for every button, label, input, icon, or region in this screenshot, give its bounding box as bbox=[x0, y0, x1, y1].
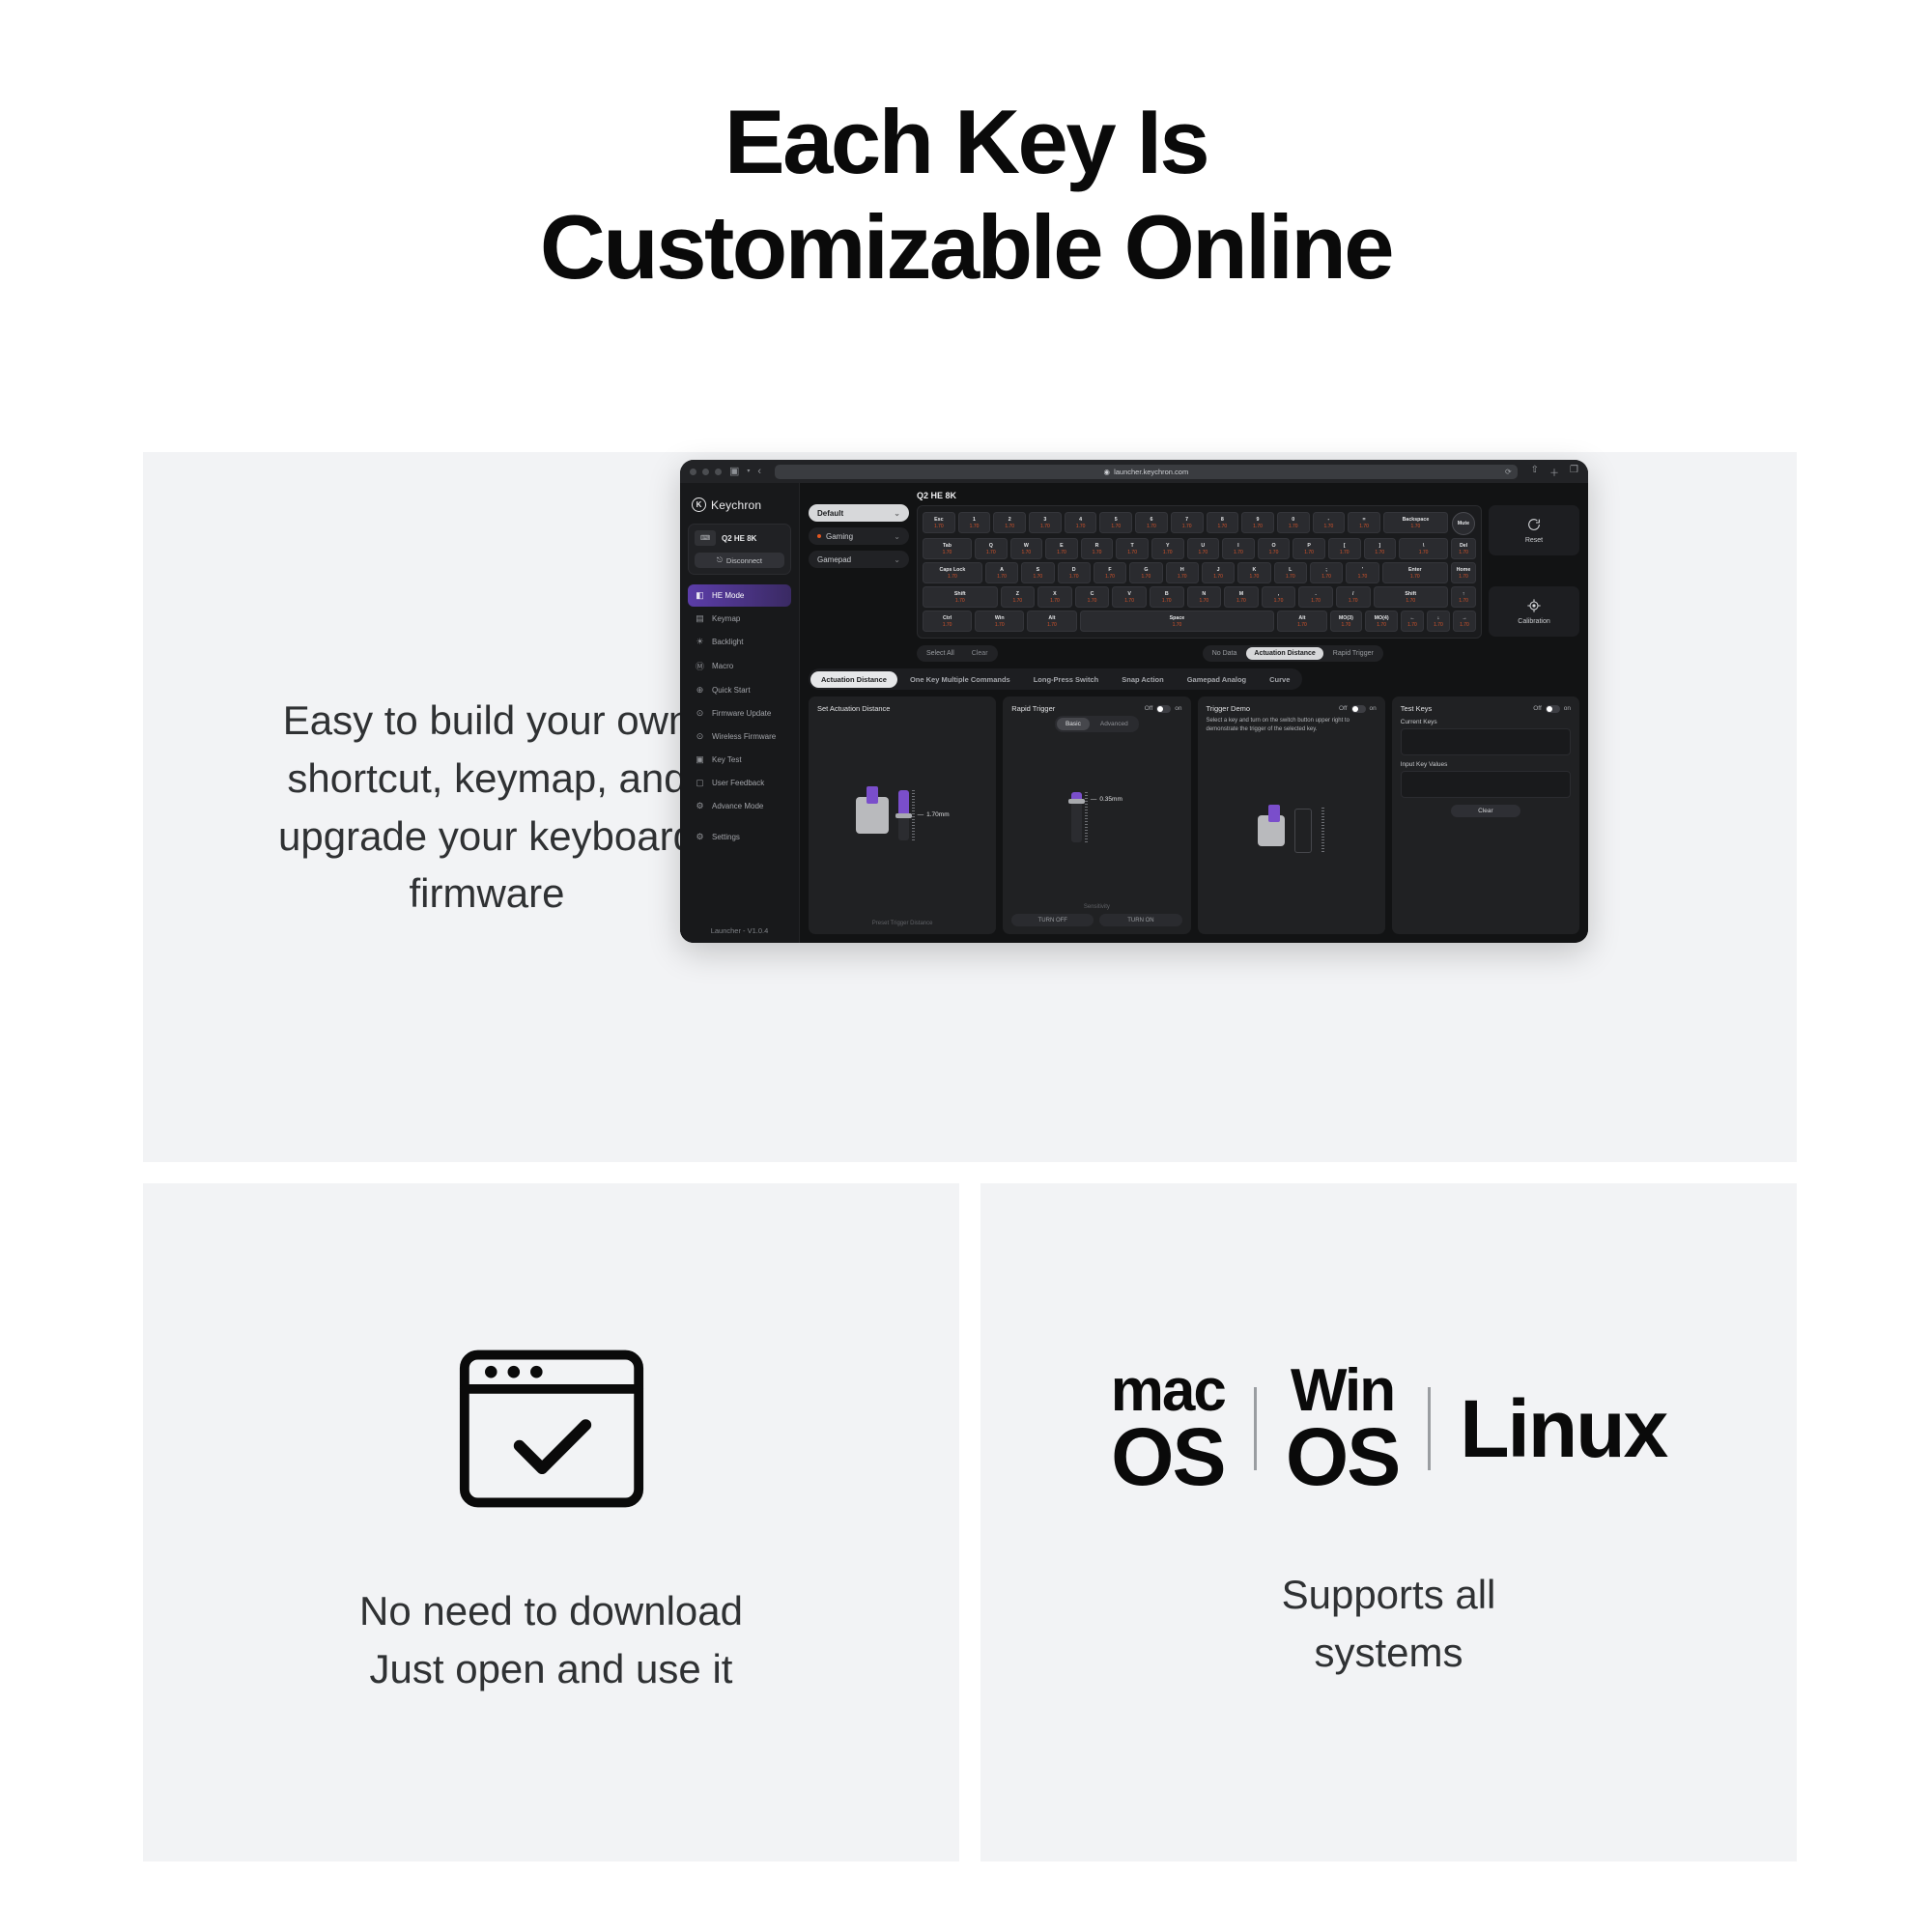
key-label: Z bbox=[1016, 591, 1019, 597]
chip-actuation-distance[interactable]: Actuation Distance bbox=[1246, 647, 1322, 660]
key-value: 1.70 bbox=[943, 550, 952, 555]
key-label: , bbox=[1278, 591, 1279, 597]
key-label: 8 bbox=[1221, 517, 1224, 523]
toggle-off-label: Off bbox=[1339, 705, 1348, 712]
plus-icon[interactable]: ＋ bbox=[1549, 465, 1559, 479]
sidebar-item-label: Backlight bbox=[712, 638, 743, 646]
key-label: 5 bbox=[1115, 517, 1118, 523]
current-keys-label: Current Keys bbox=[1401, 719, 1571, 725]
key-value: 1.70 bbox=[1407, 622, 1417, 628]
turn-on-button[interactable]: TURN ON bbox=[1099, 914, 1181, 926]
tab-snap-action[interactable]: Snap Action bbox=[1111, 671, 1174, 688]
key-label: ] bbox=[1378, 543, 1380, 549]
profile-label: Gaming bbox=[826, 532, 853, 541]
toggle-switch[interactable] bbox=[1351, 705, 1366, 713]
key-mo-4-[interactable]: MO(4)1.70 bbox=[1365, 611, 1398, 632]
key-z[interactable]: Z1.70 bbox=[1001, 586, 1036, 608]
key-value: 1.70 bbox=[1162, 598, 1172, 604]
calibration-label: Calibration bbox=[1518, 618, 1549, 625]
key-label: Caps Lock bbox=[940, 567, 966, 573]
key-j[interactable]: J1.70 bbox=[1202, 562, 1235, 583]
sidebar-item-macro[interactable]: ⓂMacro bbox=[688, 654, 791, 678]
key-7[interactable]: 71.70 bbox=[1171, 512, 1204, 533]
no-download-text: No need to download Just open and use it bbox=[359, 1582, 743, 1697]
key-alt[interactable]: Alt1.70 bbox=[1277, 611, 1326, 632]
key-value: 1.70 bbox=[1050, 598, 1060, 604]
key-value: 1.70 bbox=[1411, 524, 1421, 529]
key-o[interactable]: O1.70 bbox=[1258, 538, 1291, 559]
key-k[interactable]: K1.70 bbox=[1237, 562, 1270, 583]
key-value: 1.70 bbox=[1127, 550, 1137, 555]
key-i[interactable]: I1.70 bbox=[1222, 538, 1255, 559]
key-value: 1.70 bbox=[1459, 550, 1468, 555]
key-label: \ bbox=[1423, 543, 1424, 549]
slider-ruler bbox=[912, 790, 915, 840]
window-traffic-lights[interactable] bbox=[690, 469, 722, 475]
key-label: Q bbox=[989, 543, 993, 549]
key-value: 1.70 bbox=[934, 524, 944, 529]
key-label: ' bbox=[1362, 567, 1363, 573]
brand-logo: K Keychron bbox=[688, 495, 791, 524]
key-label: Del bbox=[1460, 543, 1467, 549]
key-value: 1.70 bbox=[1359, 524, 1369, 529]
key-value: 1.70 bbox=[1460, 622, 1469, 628]
share-icon[interactable]: ⇧ bbox=[1531, 465, 1539, 479]
key--[interactable]: '1.70 bbox=[1346, 562, 1378, 583]
advance-icon: ⚙ bbox=[695, 801, 705, 811]
key-label: . bbox=[1315, 591, 1316, 597]
key-label: N bbox=[1202, 591, 1206, 597]
sidebar-item-he-mode[interactable]: ◧HE Mode bbox=[688, 584, 791, 607]
key-value: 1.70 bbox=[1311, 598, 1321, 604]
os-linux: Linux bbox=[1460, 1382, 1666, 1476]
key-8[interactable]: 81.70 bbox=[1207, 512, 1239, 533]
key-label: [ bbox=[1344, 543, 1346, 549]
site-info-icon: ◉ bbox=[1104, 468, 1111, 476]
sidebar-toggle-icon[interactable]: ▣ bbox=[729, 467, 739, 477]
key-r[interactable]: R1.70 bbox=[1081, 538, 1114, 559]
key--[interactable]: →1.70 bbox=[1453, 611, 1476, 632]
key-value: 1.70 bbox=[943, 622, 952, 628]
feature-card-grid: Easy to build your own shortcut, keymap,… bbox=[143, 452, 1797, 1861]
key-q[interactable]: Q1.70 bbox=[975, 538, 1008, 559]
key--[interactable]: ,1.70 bbox=[1262, 586, 1296, 608]
keyboard-row: Tab1.70Q1.70W1.70E1.70R1.70T1.70Y1.70U1.… bbox=[923, 538, 1476, 559]
upload-icon: ⊙ bbox=[695, 708, 705, 719]
current-keys-field[interactable] bbox=[1401, 728, 1571, 755]
key-label: K bbox=[1253, 567, 1257, 573]
key-ctrl[interactable]: Ctrl1.70 bbox=[923, 611, 972, 632]
key-label: 6 bbox=[1150, 517, 1152, 523]
calibration-button[interactable]: Calibration bbox=[1489, 586, 1579, 637]
key-label: E bbox=[1060, 543, 1064, 549]
disconnect-icon: ⎋ bbox=[717, 555, 723, 565]
key-t[interactable]: T1.70 bbox=[1116, 538, 1149, 559]
key-label: ↑ bbox=[1463, 591, 1465, 597]
key-label: Alt bbox=[1298, 615, 1305, 621]
key--[interactable]: .1.70 bbox=[1298, 586, 1333, 608]
key-v[interactable]: V1.70 bbox=[1112, 586, 1147, 608]
actuation-caption: Preset Trigger Distance bbox=[817, 921, 987, 926]
key-label: D bbox=[1072, 567, 1076, 573]
trigger-demo-gauge bbox=[1294, 809, 1312, 853]
key--[interactable]: ↓1.70 bbox=[1427, 611, 1450, 632]
key-value: 1.70 bbox=[1297, 622, 1307, 628]
key-value: 1.70 bbox=[1286, 574, 1295, 580]
divider bbox=[1428, 1387, 1431, 1470]
key-value: 1.70 bbox=[1289, 524, 1298, 529]
key-label: O bbox=[1271, 543, 1275, 549]
key-value: 1.70 bbox=[1250, 574, 1260, 580]
key-label: ↓ bbox=[1437, 615, 1440, 621]
keyboard-title: Q2 HE 8K bbox=[917, 491, 1579, 500]
sensitivity-slider[interactable]: — 0.35mm bbox=[1071, 792, 1122, 842]
key-label: 9 bbox=[1257, 517, 1260, 523]
key-p[interactable]: P1.70 bbox=[1293, 538, 1325, 559]
sidebar-item-user-feedback[interactable]: ▢User Feedback bbox=[688, 772, 791, 794]
feature-card-launcher: Easy to build your own shortcut, keymap,… bbox=[143, 452, 1797, 1162]
key-label: Space bbox=[1170, 615, 1185, 621]
key-a[interactable]: A1.70 bbox=[985, 562, 1018, 583]
macro-icon: Ⓜ bbox=[695, 660, 705, 672]
key-g[interactable]: G1.70 bbox=[1129, 562, 1162, 583]
key-value: 1.70 bbox=[1459, 598, 1468, 604]
sidebar-item-label: Key Test bbox=[712, 755, 742, 764]
toggle-off-label: Off bbox=[1533, 705, 1542, 712]
nav-cluster: ↑1.70 bbox=[1451, 586, 1476, 608]
key-4[interactable]: 41.70 bbox=[1065, 512, 1097, 533]
key-value: 1.70 bbox=[1304, 550, 1314, 555]
supports-line-1: Supports all bbox=[1282, 1566, 1496, 1624]
toggle-switch[interactable] bbox=[1546, 705, 1560, 713]
input-key-values-label: Input Key Values bbox=[1401, 761, 1571, 768]
key-value: 1.70 bbox=[986, 550, 996, 555]
keyboard-area: Q2 HE 8K Esc1.7011.7021.7031.7041.7051.7… bbox=[917, 491, 1579, 639]
chevron-down-icon[interactable]: ▾ bbox=[747, 469, 750, 474]
page-title: Each Key Is Customizable Online bbox=[0, 0, 1932, 299]
chip-rapid-trigger[interactable]: Rapid Trigger bbox=[1325, 647, 1381, 660]
key-value: 1.70 bbox=[1198, 550, 1207, 555]
tab-curve[interactable]: Curve bbox=[1259, 671, 1300, 688]
key-label: Ctrl bbox=[943, 615, 952, 621]
he-mode-icon: ◧ bbox=[695, 590, 705, 601]
key-label: Enter bbox=[1408, 567, 1422, 573]
disconnect-label: Disconnect bbox=[726, 556, 762, 565]
key-label: MO(4) bbox=[1375, 615, 1389, 621]
key-d[interactable]: D1.70 bbox=[1058, 562, 1091, 583]
sidebar-item-settings[interactable]: ⚙Settings bbox=[688, 826, 791, 848]
key-value: 1.70 bbox=[1217, 524, 1227, 529]
key-esc[interactable]: Esc1.70 bbox=[923, 512, 955, 533]
gear-icon: ⚙ bbox=[695, 832, 705, 842]
trigger-demo-toggle[interactable]: Off on bbox=[1339, 705, 1377, 713]
key-tab[interactable]: Tab1.70 bbox=[923, 538, 972, 559]
test-keys-clear-button[interactable]: Clear bbox=[1451, 805, 1520, 817]
divider bbox=[1254, 1387, 1257, 1470]
rapid-trigger-mode-segment: Basic Advanced bbox=[1055, 716, 1139, 732]
key-s[interactable]: S1.70 bbox=[1021, 562, 1054, 583]
app-main: Default ⌄ Gaming ⌄ Gamepad ⌄ bbox=[800, 483, 1588, 943]
key-label: R bbox=[1095, 543, 1099, 549]
reset-button[interactable]: Reset bbox=[1489, 505, 1579, 555]
key-label: 3 bbox=[1043, 517, 1046, 523]
app-body: K Keychron ⌨ Q2 HE 8K ⎋ Disconnect bbox=[680, 483, 1588, 943]
key-value: 1.70 bbox=[1182, 524, 1192, 529]
key-backspace[interactable]: Backspace1.70 bbox=[1383, 512, 1448, 533]
key-enter[interactable]: Enter1.70 bbox=[1382, 562, 1448, 583]
key-value: 1.70 bbox=[1005, 524, 1014, 529]
key--[interactable]: ←1.70 bbox=[1401, 611, 1424, 632]
key-value: 1.70 bbox=[1274, 598, 1284, 604]
disconnect-button[interactable]: ⎋ Disconnect bbox=[695, 553, 784, 568]
keyboard-thumb-icon: ⌨ bbox=[695, 530, 716, 546]
settings-panels: Set Actuation Distance — 1.70mm Pr bbox=[809, 696, 1579, 934]
key--[interactable]: ;1.70 bbox=[1310, 562, 1343, 583]
key-5[interactable]: 51.70 bbox=[1099, 512, 1132, 533]
key-value: 1.70 bbox=[1163, 550, 1173, 555]
key-label: 7 bbox=[1185, 517, 1188, 523]
trigger-demo-ruler bbox=[1321, 808, 1324, 854]
key-label: C bbox=[1091, 591, 1094, 597]
key--[interactable]: [1.70 bbox=[1328, 538, 1361, 559]
toggle-off-label: Off bbox=[1145, 705, 1153, 712]
key-0[interactable]: 01.70 bbox=[1277, 512, 1310, 533]
feedback-icon: ▢ bbox=[695, 778, 705, 788]
key-alt[interactable]: Alt1.70 bbox=[1027, 611, 1076, 632]
profile-gaming[interactable]: Gaming ⌄ bbox=[809, 527, 909, 545]
segment-basic[interactable]: Basic bbox=[1057, 718, 1090, 730]
key-2[interactable]: 21.70 bbox=[993, 512, 1026, 533]
key-label: J bbox=[1217, 567, 1220, 573]
key--[interactable]: /1.70 bbox=[1336, 586, 1371, 608]
key-del[interactable]: Del1.70 bbox=[1451, 538, 1476, 559]
key-label: Esc bbox=[934, 517, 943, 523]
key-value: 1.70 bbox=[1358, 574, 1368, 580]
sidebar-item-keymap[interactable]: ▤Keymap bbox=[688, 608, 791, 630]
key--[interactable]: -1.70 bbox=[1313, 512, 1346, 533]
profile-default[interactable]: Default ⌄ bbox=[809, 504, 909, 522]
key-value: 1.70 bbox=[1124, 598, 1134, 604]
key-label: P bbox=[1307, 543, 1311, 549]
device-name: Q2 HE 8K bbox=[722, 534, 756, 543]
keychron-logo-icon: K bbox=[692, 497, 706, 512]
reset-icon bbox=[1526, 517, 1542, 532]
nav-cluster: Home1.70 bbox=[1451, 562, 1476, 583]
tabs-icon[interactable]: ❐ bbox=[1570, 465, 1578, 479]
os-windows-bottom: OS bbox=[1286, 1419, 1399, 1494]
key-label: → bbox=[1462, 615, 1466, 621]
key-value: 1.70 bbox=[1342, 622, 1351, 628]
key-label: Home bbox=[1457, 567, 1471, 573]
tab-one-key-multiple-commands[interactable]: One Key Multiple Commands bbox=[899, 671, 1021, 688]
tab-gamepad-analog[interactable]: Gamepad Analog bbox=[1177, 671, 1257, 688]
reset-label: Reset bbox=[1525, 537, 1543, 544]
sidebar-item-firmware-update[interactable]: ⊙Firmware Update bbox=[688, 702, 791, 724]
keyboard-map[interactable]: Esc1.7011.7021.7031.7041.7051.7061.7071.… bbox=[917, 505, 1482, 639]
key-6[interactable]: 61.70 bbox=[1135, 512, 1168, 533]
panel-title: Rapid Trigger bbox=[1011, 704, 1055, 713]
rapid-trigger-toggle[interactable]: Off on bbox=[1145, 705, 1182, 713]
actuation-slider[interactable]: — 1.70mm bbox=[898, 790, 950, 840]
key-value: 1.70 bbox=[997, 574, 1007, 580]
key-value: 1.70 bbox=[1253, 524, 1263, 529]
clear-button[interactable]: Clear bbox=[964, 647, 996, 660]
key-label: / bbox=[1352, 591, 1353, 597]
key-x[interactable]: X1.70 bbox=[1037, 586, 1072, 608]
key-c[interactable]: C1.70 bbox=[1075, 586, 1110, 608]
key-f[interactable]: F1.70 bbox=[1094, 562, 1126, 583]
tab-actuation-distance[interactable]: Actuation Distance bbox=[810, 671, 897, 688]
chevron-down-icon: ⌄ bbox=[894, 532, 900, 541]
key-label: 2 bbox=[1009, 517, 1011, 523]
key-value: 1.70 bbox=[1178, 574, 1187, 580]
key-value: 1.70 bbox=[1142, 574, 1151, 580]
sidebar-item-label: Firmware Update bbox=[712, 709, 771, 718]
key-3[interactable]: 31.70 bbox=[1029, 512, 1062, 533]
key-label: H bbox=[1180, 567, 1184, 573]
os-logo-row: mac OS Win OS Linux bbox=[1111, 1363, 1666, 1494]
feature-tabs: Actuation Distance One Key Multiple Comm… bbox=[809, 668, 1302, 690]
key-9[interactable]: 91.70 bbox=[1241, 512, 1274, 533]
key-value: 1.70 bbox=[1111, 524, 1121, 529]
chevron-down-icon: ⌄ bbox=[894, 509, 900, 518]
browser-toolbar: ▣ ▾ ‹ ◉ launcher.keychron.com ⟳ ⇧ ＋ ❐ bbox=[680, 460, 1588, 483]
display-mode-chips: No Data Actuation Distance Rapid Trigger bbox=[1203, 645, 1383, 662]
switch-illustration bbox=[856, 797, 889, 834]
key-h[interactable]: H1.70 bbox=[1166, 562, 1199, 583]
key-value: 1.70 bbox=[1088, 598, 1097, 604]
sidebar-item-label: Quick Start bbox=[712, 686, 751, 695]
key-value: 1.70 bbox=[1033, 574, 1042, 580]
keychron-launcher-window: ▣ ▾ ‹ ◉ launcher.keychron.com ⟳ ⇧ ＋ ❐ bbox=[680, 460, 1588, 943]
key-win[interactable]: Win1.70 bbox=[975, 611, 1024, 632]
os-macos-bottom: OS bbox=[1111, 1419, 1224, 1494]
key-value: 1.70 bbox=[1377, 622, 1386, 628]
key-label: A bbox=[1000, 567, 1004, 573]
key-value: 1.70 bbox=[948, 574, 957, 580]
key-shift[interactable]: Shift1.70 bbox=[1374, 586, 1449, 608]
os-windows: Win OS bbox=[1286, 1363, 1399, 1494]
key--[interactable]: =1.70 bbox=[1348, 512, 1380, 533]
key-label: B bbox=[1165, 591, 1169, 597]
key-u[interactable]: U1.70 bbox=[1187, 538, 1220, 559]
keyboard-actions: Reset Calibration bbox=[1489, 505, 1579, 639]
supports-all-systems-text: Supports all systems bbox=[1282, 1566, 1496, 1681]
nav-cluster: ←1.70↓1.70→1.70 bbox=[1401, 611, 1476, 632]
key-label: Shift bbox=[1405, 591, 1416, 597]
key--[interactable]: \1.70 bbox=[1399, 538, 1448, 559]
turn-off-button[interactable]: TURN OFF bbox=[1011, 914, 1094, 926]
upload-icon: ⊙ bbox=[695, 731, 705, 742]
feature-card-supports-all-systems: mac OS Win OS Linux Supports all systems bbox=[980, 1183, 1797, 1861]
panel-trigger-demo: Trigger Demo Off on Select a key and tur… bbox=[1198, 696, 1385, 934]
key-value: 1.70 bbox=[1324, 524, 1334, 529]
tab-long-press-switch[interactable]: Long-Press Switch bbox=[1023, 671, 1110, 688]
key-label: 1 bbox=[973, 517, 976, 523]
sidebar-item-label: Settings bbox=[712, 833, 740, 841]
launcher-version: Launcher - V1.0.4 bbox=[688, 921, 791, 943]
toggle-on-label: on bbox=[1370, 705, 1377, 712]
key-label: L bbox=[1289, 567, 1292, 573]
key-n[interactable]: N1.70 bbox=[1187, 586, 1222, 608]
toggle-on-label: on bbox=[1175, 705, 1181, 712]
profile-gamepad[interactable]: Gamepad ⌄ bbox=[809, 551, 909, 568]
segment-advanced[interactable]: Advanced bbox=[1092, 718, 1137, 730]
refresh-icon[interactable]: ⟳ bbox=[1505, 468, 1512, 476]
key-label: X bbox=[1053, 591, 1057, 597]
toggle-switch[interactable] bbox=[1156, 705, 1171, 713]
slider-ruler bbox=[1085, 792, 1088, 842]
sidebar-item-advance-mode[interactable]: ⚙Advance Mode bbox=[688, 795, 791, 817]
knob-mute[interactable]: Mute bbox=[1452, 512, 1475, 535]
key-e[interactable]: E1.70 bbox=[1045, 538, 1078, 559]
key-value: 1.70 bbox=[1173, 622, 1182, 628]
nav-cluster: Mute bbox=[1451, 512, 1476, 535]
key-value: 1.70 bbox=[1012, 598, 1022, 604]
input-key-values-field[interactable] bbox=[1401, 771, 1571, 798]
key--[interactable]: ↑1.70 bbox=[1451, 586, 1476, 608]
keyboard-row: Ctrl1.70Win1.70Alt1.70Space1.70Alt1.70MO… bbox=[923, 611, 1476, 632]
sidebar-item-label: HE Mode bbox=[712, 591, 744, 600]
key-value: 1.70 bbox=[1419, 550, 1429, 555]
chip-no-data[interactable]: No Data bbox=[1205, 647, 1245, 660]
key-home[interactable]: Home1.70 bbox=[1451, 562, 1476, 583]
key-value: 1.70 bbox=[1340, 550, 1350, 555]
toggle-on-label: on bbox=[1564, 705, 1571, 712]
key-caps-lock[interactable]: Caps Lock1.70 bbox=[923, 562, 982, 583]
address-bar[interactable]: ◉ launcher.keychron.com ⟳ bbox=[775, 465, 1518, 479]
key-value: 1.70 bbox=[1047, 622, 1057, 628]
key-shift[interactable]: Shift1.70 bbox=[923, 586, 998, 608]
no-download-line-1: No need to download bbox=[359, 1582, 743, 1640]
feature-card-no-download: No need to download Just open and use it bbox=[143, 1183, 959, 1861]
key-mo-3-[interactable]: MO(3)1.70 bbox=[1330, 611, 1363, 632]
key-y[interactable]: Y1.70 bbox=[1151, 538, 1184, 559]
select-all-button[interactable]: Select All bbox=[919, 647, 962, 660]
key-l[interactable]: L1.70 bbox=[1274, 562, 1307, 583]
key-label: Tab bbox=[943, 543, 952, 549]
key-value: 1.70 bbox=[1236, 598, 1246, 604]
launcher-card-text: Easy to build your own shortcut, keymap,… bbox=[216, 692, 757, 923]
key-m[interactable]: M1.70 bbox=[1224, 586, 1259, 608]
sidebar-item-backlight[interactable]: ☀Backlight bbox=[688, 631, 791, 653]
key-w[interactable]: W1.70 bbox=[1010, 538, 1043, 559]
test-keys-toggle[interactable]: Off on bbox=[1533, 705, 1571, 713]
key-space[interactable]: Space1.70 bbox=[1080, 611, 1275, 632]
chevron-left-icon[interactable]: ‹ bbox=[757, 467, 761, 477]
key-label: Alt bbox=[1048, 615, 1055, 621]
sidebar-item-quick-start[interactable]: ⊕Quick Start bbox=[688, 679, 791, 701]
key-b[interactable]: B1.70 bbox=[1150, 586, 1184, 608]
key-value: 1.70 bbox=[1105, 574, 1115, 580]
sidebar-item-key-test[interactable]: ▣Key Test bbox=[688, 749, 791, 771]
key-label: Win bbox=[995, 615, 1005, 621]
key-value: 1.70 bbox=[995, 622, 1005, 628]
sidebar-item-wireless-firmware[interactable]: ⊙Wireless Firmware bbox=[688, 725, 791, 748]
key-label: - bbox=[1328, 517, 1330, 523]
key-label: G bbox=[1144, 567, 1148, 573]
key-label: ; bbox=[1325, 567, 1327, 573]
key-1[interactable]: 11.70 bbox=[958, 512, 991, 533]
key-test-icon: ▣ bbox=[695, 754, 705, 765]
key--[interactable]: ]1.70 bbox=[1364, 538, 1397, 559]
brand-name: Keychron bbox=[711, 498, 761, 512]
panel-set-actuation-distance: Set Actuation Distance — 1.70mm Pr bbox=[809, 696, 996, 934]
no-download-line-2: Just open and use it bbox=[359, 1640, 743, 1698]
key-value: 1.70 bbox=[1410, 574, 1420, 580]
key-label: Y bbox=[1166, 543, 1170, 549]
chevron-down-icon: ⌄ bbox=[894, 555, 900, 564]
